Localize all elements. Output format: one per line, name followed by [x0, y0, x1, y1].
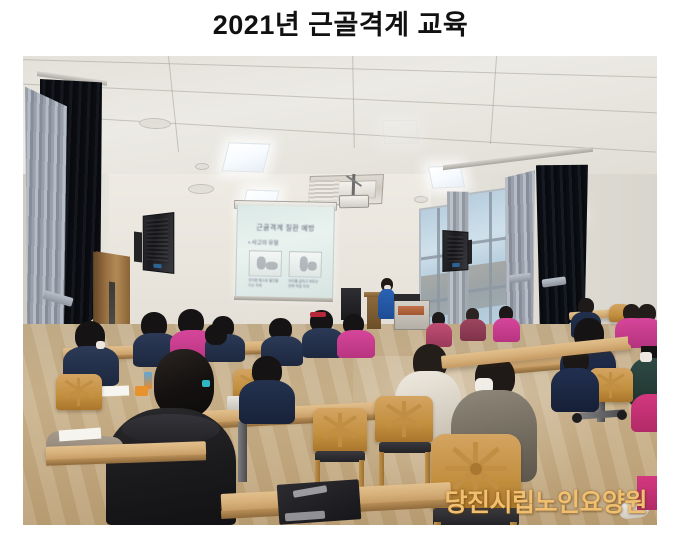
classroom-education-photo: 근골격계 질환 예방 • 사고의 유형 무리한 힘으로 물건을 드는 자세 허리… [23, 56, 657, 525]
av-cabinet [394, 300, 430, 330]
page-title: 2021년 근골격계 교육 [0, 8, 681, 42]
attendee-body [460, 319, 486, 341]
attendee-body [493, 318, 520, 342]
desk-leg [238, 422, 247, 482]
ceiling-light [382, 120, 420, 145]
window-mullion [489, 192, 492, 340]
chair-leg [510, 522, 517, 525]
attendee-mask-icon [640, 352, 652, 362]
sheer-curtain-left[interactable] [25, 87, 67, 356]
speaker-grille [447, 236, 463, 262]
av-keyboard [394, 294, 420, 301]
attendee-head [205, 324, 227, 345]
chair-seat [379, 442, 431, 453]
slide-figure [300, 256, 308, 271]
slide-figure [257, 256, 266, 269]
slide-caption-left: 무리한 힘으로 물건을 드는 자세 [248, 278, 280, 288]
watermark: 당진시립노인요양원 [444, 483, 647, 519]
chair-leg [434, 522, 441, 525]
speaker-badge [153, 264, 161, 269]
handout-paper [101, 386, 129, 397]
hair-clip-icon [310, 312, 326, 317]
chair-seat [315, 451, 365, 462]
chair-back [56, 374, 102, 410]
hoodie-collar [122, 414, 220, 444]
attendee-body [239, 380, 295, 424]
chair-back [313, 408, 367, 452]
slide-title: 근골격계 질환 예방 [237, 222, 333, 234]
chair-back [375, 396, 433, 442]
chair-hub [470, 463, 482, 475]
ceiling-seam [23, 84, 656, 114]
ceiling [23, 56, 657, 174]
wall-speaker-right [442, 230, 468, 272]
ceiling-projector [339, 195, 369, 209]
speaker-bracket-left [134, 231, 142, 262]
ceiling-sprinkler-icon [195, 163, 209, 170]
attendee-body [628, 318, 657, 346]
slide-figure [308, 261, 317, 270]
attendee-lower-body [631, 394, 657, 432]
speaker-grille [147, 218, 169, 263]
slide-figure [266, 262, 278, 270]
attendee-body [337, 330, 375, 358]
desk-caster-wheel [617, 410, 627, 420]
slide-bullet: • 사고의 유형 [248, 238, 278, 247]
desk-caster-wheel [572, 413, 582, 423]
wall-speaker-left [143, 212, 175, 274]
ceiling-seam [168, 56, 179, 152]
ceiling-sprinkler-icon [414, 196, 428, 203]
speaker-badge [453, 263, 460, 267]
slide-caption-right: 허리를 굽히고 비트는 반복 작업 자세 [288, 279, 320, 289]
attendee-body [551, 368, 599, 412]
projection-screen: 근골격계 질환 예방 • 사고의 유형 무리한 힘으로 물건을 드는 자세 허리… [235, 205, 335, 300]
orange-fruit [135, 386, 148, 396]
hair-pin-icon [202, 380, 210, 387]
air-conditioner-slats [308, 180, 339, 201]
slide-image-left [248, 250, 282, 277]
slide-image-right [288, 251, 322, 278]
ceiling-seam [23, 59, 657, 78]
attendee-mask-icon [96, 341, 105, 349]
ceiling-seam [490, 56, 497, 144]
ceiling-speaker-icon [188, 184, 214, 194]
ceiling-seam [352, 56, 355, 148]
ceiling-light [222, 142, 271, 172]
av-cabinet-drawer [398, 306, 424, 315]
